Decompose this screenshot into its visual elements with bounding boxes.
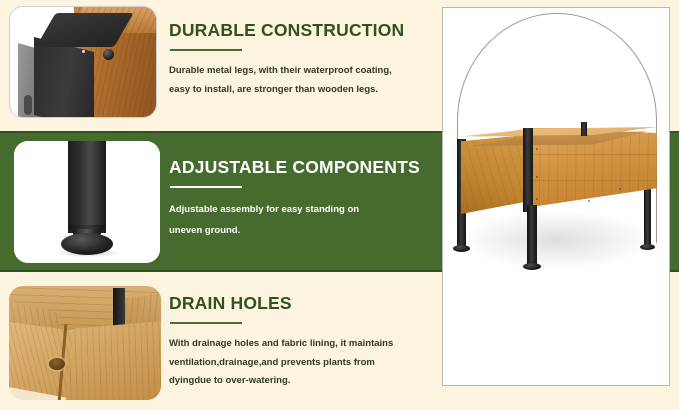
section-durable-construction: DURABLE CONSTRUCTION Durable metal legs,…	[169, 20, 431, 99]
raised-garden-bed-planter-photo	[443, 8, 670, 386]
body-line: ventilation,drainage,and prevents plants…	[169, 354, 431, 373]
body-line: easy to install, are stronger than woode…	[169, 81, 431, 100]
section-heading: DURABLE CONSTRUCTION	[169, 20, 431, 41]
section-body: Adjustable assembly for easy standing on…	[169, 199, 431, 242]
body-line: Durable metal legs, with their waterproo…	[169, 62, 431, 81]
heading-underline	[170, 49, 242, 51]
body-line: With drainage holes and fabric lining, i…	[169, 335, 431, 354]
section-heading: ADJUSTABLE COMPONENTS	[169, 157, 431, 178]
heading-underline	[170, 186, 242, 188]
heading-underline	[170, 322, 242, 324]
section-heading: DRAIN HOLES	[169, 293, 431, 314]
adjustable-leg-foot-photo	[14, 141, 160, 263]
metal-corner-bracket-photo	[9, 6, 157, 118]
infographic: DURABLE CONSTRUCTION Durable metal legs,…	[0, 0, 679, 410]
section-body: With drainage holes and fabric lining, i…	[169, 335, 431, 391]
section-adjustable-components: ADJUSTABLE COMPONENTS Adjustable assembl…	[169, 157, 431, 242]
planter-base-drain-hole-photo	[9, 286, 161, 400]
hero-product-card	[442, 7, 670, 386]
body-line: dyingdue to over-watering.	[169, 372, 431, 391]
body-line: uneven ground.	[169, 220, 431, 241]
section-body: Durable metal legs, with their waterproo…	[169, 62, 431, 99]
section-drain-holes: DRAIN HOLES With drainage holes and fabr…	[169, 293, 431, 391]
body-line: Adjustable assembly for easy standing on	[169, 199, 431, 220]
